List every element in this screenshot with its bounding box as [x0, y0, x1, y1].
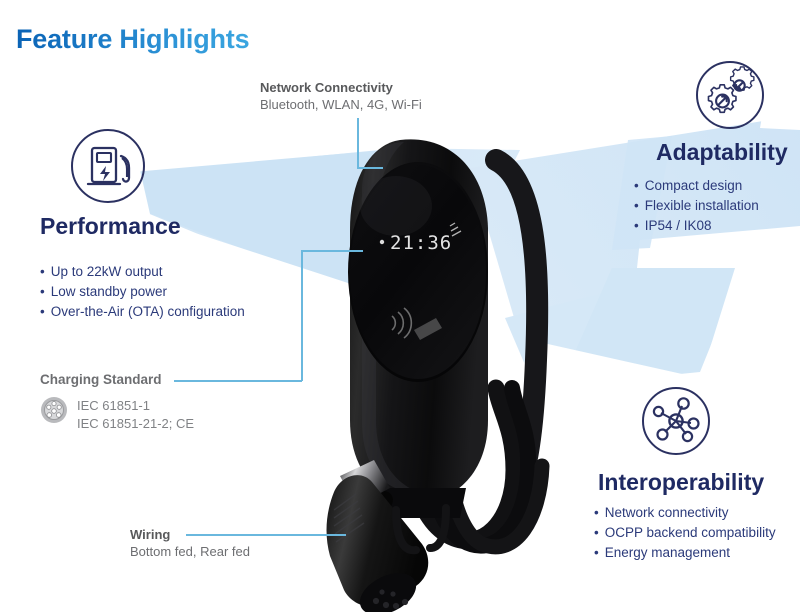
network-leader-horizontal [357, 167, 383, 169]
charging-standard-leader-top [301, 250, 363, 252]
performance-bullet-item: Low standby power [40, 282, 245, 302]
adaptability-bullet-item: Flexible installation [634, 196, 759, 216]
interoperability-heading: Interoperability [598, 469, 764, 496]
charging-standard-heading: Charging Standard [40, 372, 162, 387]
charging-standard-leader-vertical [301, 250, 303, 381]
ev-charging-station-icon [68, 126, 148, 206]
page-title: Feature Highlights [16, 24, 249, 55]
slide-canvas: Feature Highlights [0, 0, 800, 612]
wiring-callout: Wiring Bottom fed, Rear fed [130, 526, 250, 561]
interoperability-bullet-item: Network connectivity [594, 503, 776, 523]
adaptability-bullets: Compact designFlexible installationIP54 … [634, 176, 759, 236]
charging-standard-lines: IEC 61851-1IEC 61851-21-2; CE [77, 397, 194, 433]
network-hub-icon [637, 382, 715, 460]
wiring-leader-horizontal [186, 534, 346, 536]
performance-bullets: Up to 22kW outputLow standby powerOver-t… [40, 262, 245, 322]
adaptability-bullet-item: Compact design [634, 176, 759, 196]
network-connectivity-callout: Network Connectivity Bluetooth, WLAN, 4G… [260, 79, 422, 114]
interoperability-bullet-item: Energy management [594, 543, 776, 563]
performance-bullet-item: Up to 22kW output [40, 262, 245, 282]
gears-icon [693, 58, 767, 132]
network-leader-vertical [357, 118, 359, 168]
ev-wallbox-charger: 21:36 [300, 120, 570, 612]
network-connectivity-title: Network Connectivity [260, 79, 422, 96]
charging-standard-line: IEC 61851-21-2; CE [77, 415, 194, 433]
svg-text:21:36: 21:36 [390, 232, 452, 254]
interoperability-bullet-item: OCPP backend compatibility [594, 523, 776, 543]
performance-bullet-item: Over-the-Air (OTA) configuration [40, 302, 245, 322]
performance-heading: Performance [40, 213, 181, 240]
network-connectivity-subtitle: Bluetooth, WLAN, 4G, Wi-Fi [260, 96, 422, 114]
wiring-subtitle: Bottom fed, Rear fed [130, 543, 250, 561]
charging-standard-line: IEC 61851-1 [77, 397, 194, 415]
type2-connector-icon [40, 396, 68, 429]
adaptability-heading: Adaptability [656, 139, 788, 166]
adaptability-bullet-item: IP54 / IK08 [634, 216, 759, 236]
charging-standard-leader-horizontal [174, 380, 302, 382]
interoperability-bullets: Network connectivityOCPP backend compati… [594, 503, 776, 563]
